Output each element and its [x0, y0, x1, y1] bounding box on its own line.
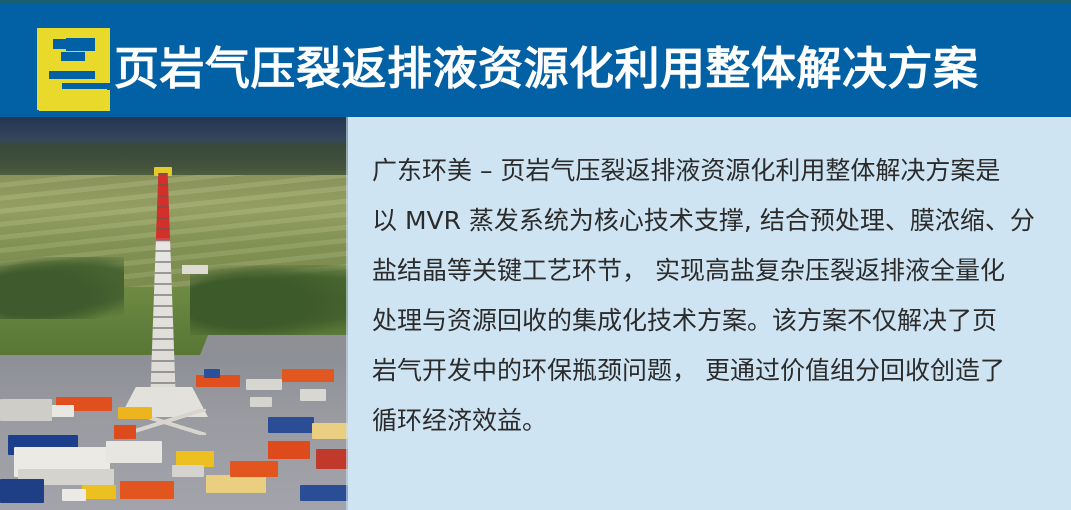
photo-equipment-unit — [300, 389, 326, 401]
photo-equipment-unit — [206, 475, 266, 493]
digit-two-glyph — [33, 27, 113, 111]
photo-equipment-unit — [204, 369, 220, 378]
photo-equipment-unit — [106, 441, 162, 463]
section-header-banner: 页岩气压裂返排液资源化利用整体解决方案 — [0, 0, 1071, 117]
photo-derrick-arm — [182, 265, 208, 274]
photo-equipment-unit — [114, 425, 136, 439]
photo-equipment-unit — [282, 369, 334, 382]
photo-derrick-tower — [142, 173, 186, 405]
photo-equipment-unit — [250, 397, 272, 407]
photo-equipment-unit — [268, 417, 314, 433]
solution-description-text: 广东环美 – 页岩气压裂返排液资源化利用整体解决方案是 以 MVR 蒸发系统为核… — [372, 146, 1048, 446]
photo-equipment-unit — [0, 399, 52, 421]
photo-equipment-unit — [120, 481, 174, 499]
solution-section-card: 页岩气压裂返排液资源化利用整体解决方案 — [0, 0, 1071, 510]
photo-equipment-unit — [316, 449, 348, 469]
photo-equipment-unit — [300, 485, 348, 501]
photo-equipment-unit — [62, 489, 86, 501]
photo-equipment-unit — [82, 485, 116, 499]
photo-trees-left — [0, 257, 124, 319]
derrick-lattice — [150, 173, 176, 405]
photo-equipment-unit — [118, 407, 152, 419]
step-number-badge — [33, 27, 113, 111]
photo-trees-right — [190, 265, 348, 335]
photo-equipment-unit — [246, 379, 282, 390]
drilling-rig-photo — [0, 117, 348, 510]
photo-equipment-unit — [312, 423, 348, 439]
photo-equipment-unit — [230, 461, 278, 477]
header-top-rule — [0, 0, 1071, 3]
photo-equipment-unit — [268, 441, 310, 459]
page-title: 页岩气压裂返排液资源化利用整体解决方案 — [114, 27, 1014, 111]
photo-equipment-unit — [0, 479, 44, 503]
description-panel: 广东环美 – 页岩气压裂返排液资源化利用整体解决方案是 以 MVR 蒸发系统为核… — [348, 117, 1071, 510]
photo-equipment-unit — [172, 465, 204, 477]
